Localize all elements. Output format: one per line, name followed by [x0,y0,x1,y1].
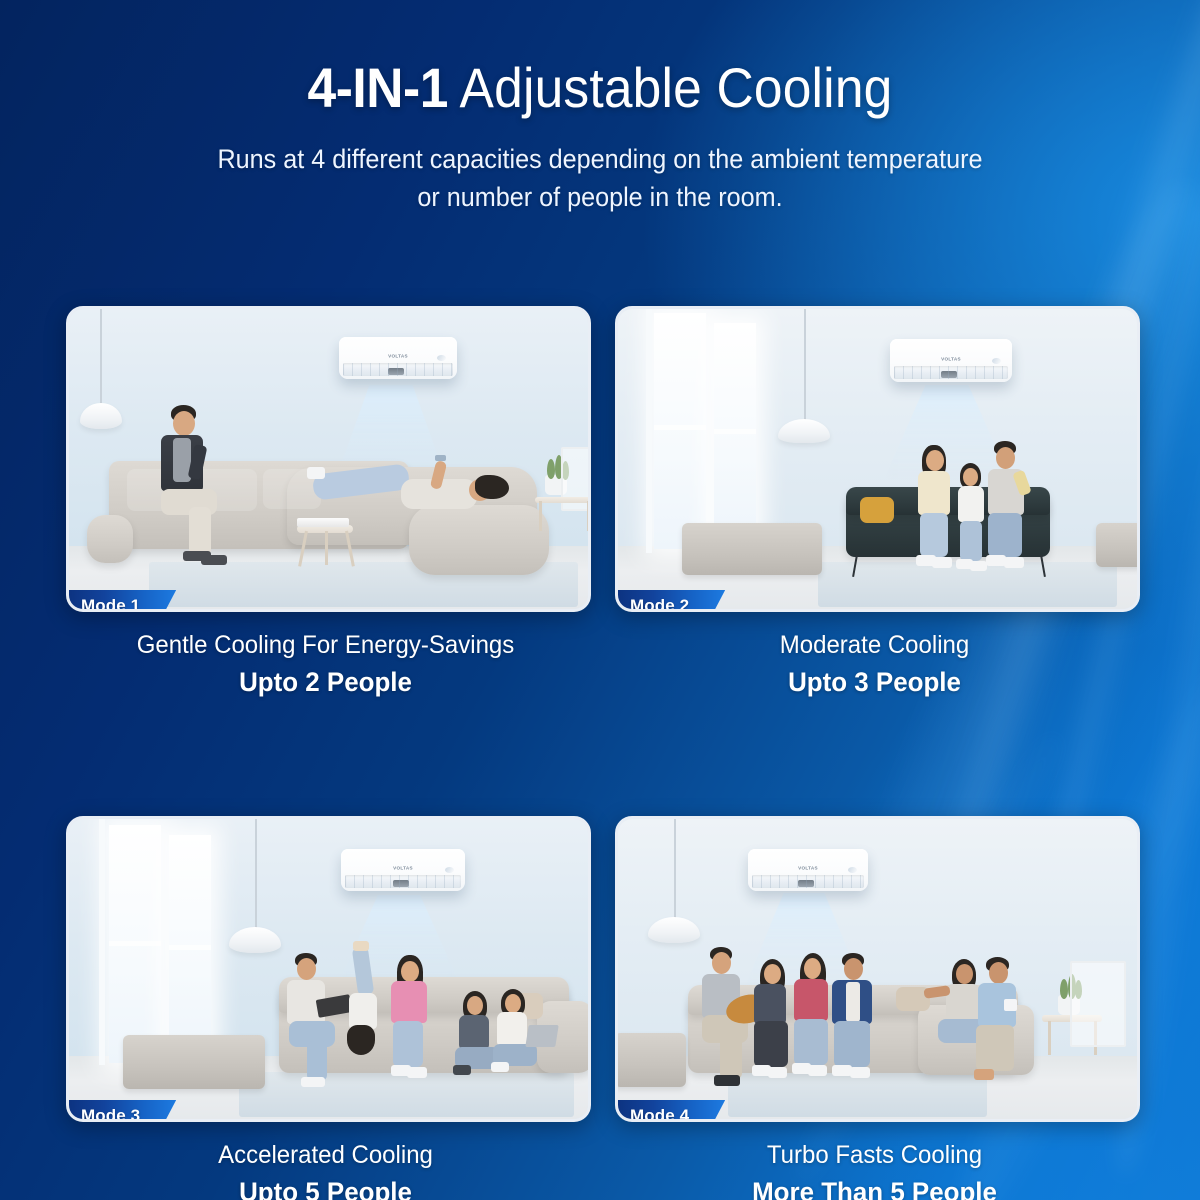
mode-caption-4: Turbo Fasts Cooling More Than 5 People [615,1139,1134,1200]
card-row-1: VOLTAS [66,306,1134,700]
caption-bottom-2: Upto 3 People [625,664,1123,700]
promo-graphic: 4-IN-1 Adjustable Cooling Runs at 4 diff… [0,0,1200,1200]
person-man-plaid-4 [830,953,880,1089]
room-scene-1: VOLTAS [69,309,588,609]
title-light: Adjustable Cooling [460,56,893,119]
mode-card-1-image: VOLTAS [66,306,591,612]
mode-badge-4: Mode 4 [615,1100,725,1122]
person-father-2 [984,441,1032,575]
subtitle-line-2: or number of people in the room. [30,178,1170,216]
mode-caption-2: Moderate Cooling Upto 3 People [615,629,1134,700]
person-woman-pink-3 [387,955,435,1087]
window-3 [109,825,161,1063]
person-man-reading-3 [283,953,339,1087]
header: 4-IN-1 Adjustable Cooling Runs at 4 diff… [0,0,1200,216]
mode-badge-2: Mode 2 [615,590,725,612]
title-bold: 4-IN-1 [308,56,448,119]
person-woman-1 [309,455,519,525]
room-scene-3: VOLTAS [69,819,588,1119]
person-girl-floor-b-3 [491,989,539,1083]
caption-bottom-4: More Than 5 People [625,1174,1123,1200]
person-man-b-4 [974,957,1026,1089]
wall-frame-4 [1070,961,1126,1047]
mode-card-grid: VOLTAS [66,306,1134,1200]
ottoman-2 [682,523,822,575]
page-subtitle: Runs at 4 different capacities depending… [30,140,1170,216]
mode-card-4-image: VOLTAS [615,816,1140,1122]
mode-caption-3: Accelerated Cooling Upto 5 People [66,1139,585,1200]
page-title: 4-IN-1 Adjustable Cooling [48,56,1152,120]
air-conditioner-4: VOLTAS [748,849,868,891]
caption-bottom-1: Upto 2 People [76,664,574,700]
ottoman-4 [618,1033,686,1087]
mode-card-2-image: VOLTAS [615,306,1140,612]
caption-top-1: Gentle Cooling For Energy-Savings [76,629,574,661]
mode-badge-3: Mode 3 [66,1100,176,1122]
person-mother-2 [914,445,958,575]
air-conditioner-3: VOLTAS [341,849,465,891]
caption-top-4: Turbo Fasts Cooling [625,1139,1123,1171]
mode-caption-1: Gentle Cooling For Energy-Savings Upto 2… [66,629,585,700]
card-row-2: VOLTAS [66,816,1134,1200]
room-scene-2: VOLTAS [618,309,1137,609]
mode-badge-1: Mode 1 [66,590,176,612]
mode-card-3-image: VOLTAS [66,816,591,1122]
mode-card-3: VOLTAS [66,816,585,1200]
cushion-yellow-2 [860,497,894,523]
window-2 [654,313,706,549]
person-child-upsidedown-3 [343,947,391,1065]
ottoman-3 [123,1035,265,1089]
room-scene-4: VOLTAS [618,819,1137,1119]
caption-top-2: Moderate Cooling [625,629,1123,661]
person-guitarist-4 [698,947,754,1087]
pendant-lamp-cord-1 [100,309,102,405]
air-conditioner-1: VOLTAS [339,337,457,379]
subtitle-line-1: Runs at 4 different capacities depending… [30,140,1170,178]
person-man-1 [155,405,227,565]
air-conditioner-2: VOLTAS [890,339,1012,382]
mode-card-4: VOLTAS [615,816,1134,1200]
laptop-3 [525,1025,558,1047]
mode-card-1: VOLTAS [66,306,585,700]
caption-bottom-3: Upto 5 People [76,1174,574,1200]
mode-card-2: VOLTAS [615,306,1134,700]
caption-top-3: Accelerated Cooling [76,1139,574,1171]
